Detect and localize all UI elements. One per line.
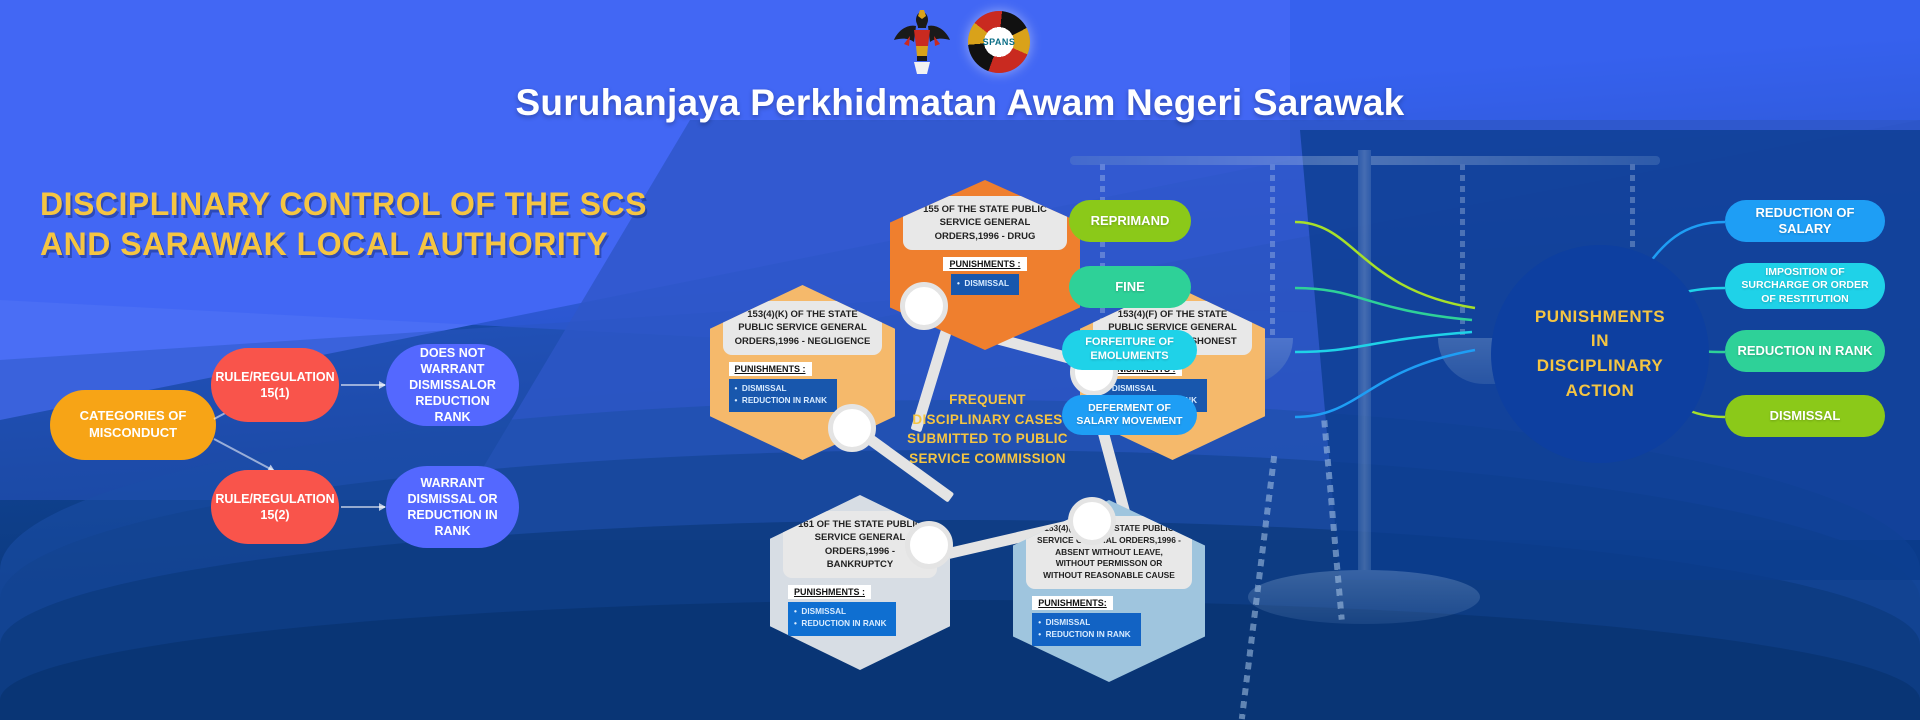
mindmap-center-line-3: DISCIPLINARY <box>1535 354 1665 379</box>
spans-logo-text: SPANS <box>983 37 1016 47</box>
mindmap-center-line-4: ACTION <box>1535 379 1665 404</box>
mindmap-center-node[interactable]: PUNISHMENTS IN DISCIPLINARY ACTION <box>1491 245 1709 463</box>
mindmap-pill-reduction-of-salary[interactable]: REDUCTION OF SALARY <box>1725 200 1885 242</box>
hex-punishments-heading-drug: PUNISHMENTS : <box>943 257 1026 271</box>
punishment-item: • REDUCTION IN RANK <box>1038 629 1130 641</box>
page-title-line-1: DISCIPLINARY CONTROL OF THE SCS <box>40 185 680 225</box>
hex-connector-node-absent <box>1068 497 1116 545</box>
hex-connector-node-negligence <box>828 404 876 452</box>
center-label-line-1: FREQUENT <box>900 390 1075 410</box>
page-title: DISCIPLINARY CONTROL OF THE SCS AND SARA… <box>40 185 680 264</box>
punishment-item: • DISMISSAL <box>957 278 1009 290</box>
punishment-item: • DISMISSAL <box>794 606 886 618</box>
mindmap-pill-deferment-of-salary-movement[interactable]: DEFERMENT OF SALARY MOVEMENT <box>1062 395 1197 435</box>
mindmap-pill-dismissal[interactable]: DISMISSAL <box>1725 395 1885 437</box>
organization-title: Suruhanjaya Perkhidmatan Awam Negeri Sar… <box>0 82 1920 124</box>
hex-punishments-list-bankruptcy: • DISMISSAL • REDUCTION IN RANK <box>788 602 896 636</box>
page-header: SPANS Suruhanjaya Perkhidmatan Awam Nege… <box>0 0 1920 124</box>
mindmap-pill-fine[interactable]: FINE <box>1069 266 1191 308</box>
punishment-item: • REDUCTION IN RANK <box>735 395 827 407</box>
spans-logo-icon: SPANS <box>968 11 1030 73</box>
infographic-canvas: SPANS Suruhanjaya Perkhidmatan Awam Nege… <box>0 0 1920 720</box>
node-rule-15-1[interactable]: RULE/REGULATION 15(1) <box>211 348 339 422</box>
mindmap-center-line-2: IN <box>1535 329 1665 354</box>
hex-punishments-heading-absent: PUNISHMENTS: <box>1032 596 1113 610</box>
mindmap-pill-forfeiture-of-emoluments[interactable]: FORFEITURE OF EMOLUMENTS <box>1062 330 1197 370</box>
hex-punishments-list-drug: • DISMISSAL <box>951 274 1019 295</box>
hex-punishments-list-absent: • DISMISSAL • REDUCTION IN RANK <box>1032 613 1140 647</box>
node-rule-15-2[interactable]: RULE/REGULATION 15(2) <box>211 470 339 544</box>
mindmap-center-line-1: PUNISHMENTS <box>1535 305 1665 330</box>
punishment-item: • DISMISSAL <box>735 383 827 395</box>
mindmap-center-text: PUNISHMENTS IN DISCIPLINARY ACTION <box>1535 305 1665 404</box>
node-outcome-15-2[interactable]: WARRANT DISMISSAL OR REDUCTION IN RANK <box>386 466 519 548</box>
logo-row: SPANS <box>0 0 1920 76</box>
scales-chain-left-a <box>1100 164 1105 339</box>
hex-connector-node-drug <box>900 282 948 330</box>
hex-cluster-center-label: FREQUENT DISCIPLINARY CASES SUBMITTED TO… <box>900 390 1075 468</box>
hex-punishments-list-negligence: • DISMISSAL • REDUCTION IN RANK <box>729 379 837 413</box>
hex-connector-node-bankruptcy <box>905 521 953 569</box>
page-title-line-2: AND SARAWAK LOCAL AUTHORITY <box>40 225 680 265</box>
node-outcome-15-1[interactable]: DOES NOT WARRANT DISMISSALOR REDUCTION R… <box>386 344 519 426</box>
mindmap-pill-reduction-in-rank[interactable]: REDUCTION IN RANK <box>1725 330 1885 372</box>
punishment-item: • DISMISSAL <box>1038 617 1130 629</box>
connector-rule-1-to-outcome-1 <box>341 384 385 386</box>
center-label-line-3: SUBMITTED TO PUBLIC <box>900 429 1075 449</box>
node-categories-of-misconduct[interactable]: CATEGORIES OF MISCONDUCT <box>50 390 216 460</box>
mindmap-pill-imposition-of-surcharge[interactable]: IMPOSITION OF SURCHARGE OR ORDER OF REST… <box>1725 263 1885 309</box>
center-label-line-2: DISCIPLINARY CASES <box>900 410 1075 430</box>
mindmap-pill-reprimand[interactable]: REPRIMAND <box>1069 200 1191 242</box>
hex-punishments-heading-bankruptcy: PUNISHMENTS : <box>788 585 871 599</box>
hex-punishments-heading-negligence: PUNISHMENTS : <box>729 362 812 376</box>
punishment-item: • REDUCTION IN RANK <box>794 618 886 630</box>
center-label-line-4: SERVICE COMMISSION <box>900 449 1075 469</box>
connector-rule-2-to-outcome-2 <box>341 506 385 508</box>
sarawak-crest-icon <box>890 6 954 78</box>
scales-base <box>1248 570 1480 624</box>
